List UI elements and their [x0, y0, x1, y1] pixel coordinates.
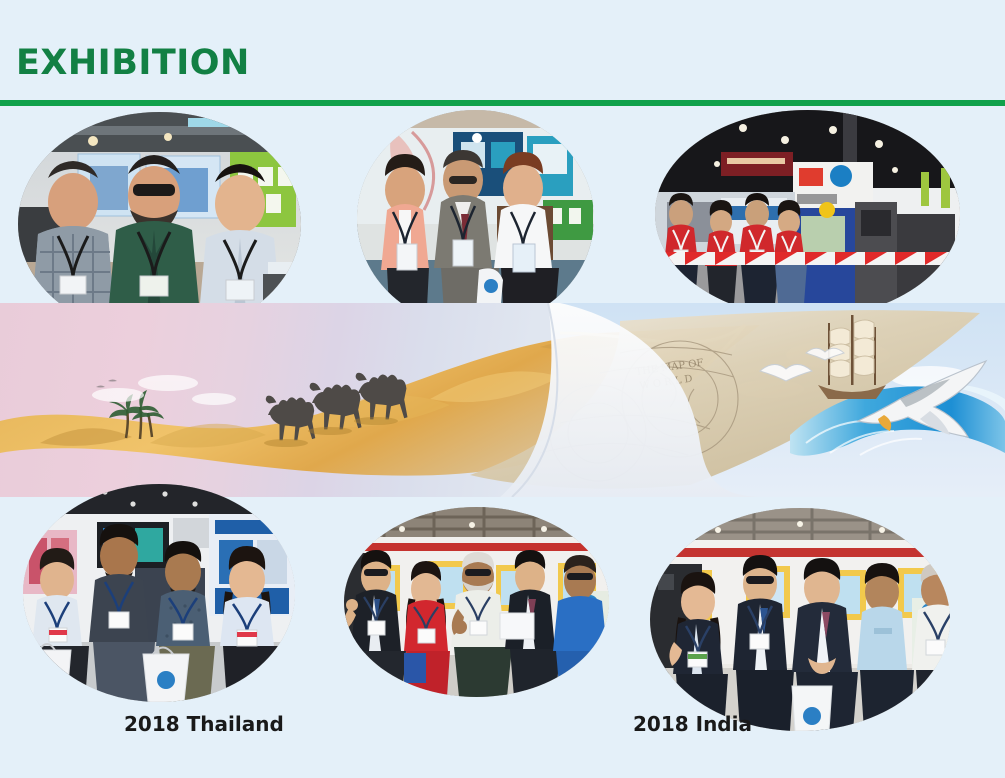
exhibition-photo-3[interactable] [655, 110, 960, 318]
exhibition-photo-4[interactable] [23, 484, 295, 702]
photo-6-image [650, 508, 950, 731]
title-divider-rule [0, 100, 1005, 106]
photo-6-caption: 2018 India [633, 714, 752, 734]
page-title: EXHIBITION [16, 46, 250, 81]
photo-3-image [655, 110, 960, 318]
photo-5-image [344, 507, 609, 697]
band-artwork: THE MAP OF W O R L D [0, 303, 1005, 497]
photo-4-caption: 2018 Thailand [124, 714, 284, 734]
photo-2-image [357, 110, 594, 327]
desert-to-sea-band: THE MAP OF W O R L D [0, 303, 1005, 497]
photo-4-image [23, 484, 295, 702]
exhibition-page: EXHIBITION [0, 0, 1005, 778]
exhibition-photo-6[interactable] [650, 508, 950, 731]
exhibition-photo-5[interactable] [344, 507, 609, 697]
exhibition-photo-2[interactable] [357, 110, 594, 327]
